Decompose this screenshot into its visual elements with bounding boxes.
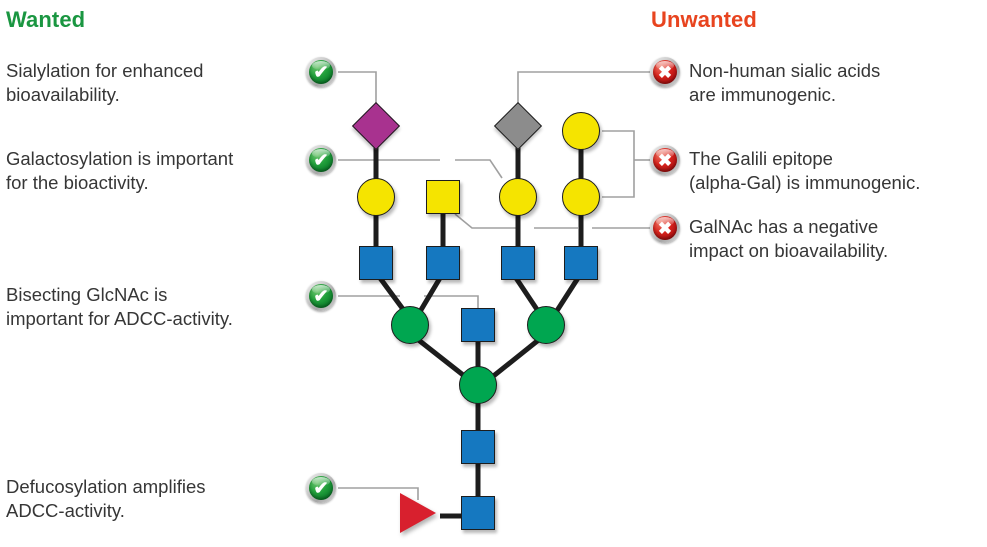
glycan-node-galactose-1 xyxy=(357,178,395,216)
glycan-node-galactose-4 xyxy=(562,178,600,216)
note-non-human-sialic-acids: Non-human sialic acids are immunogenic. xyxy=(689,59,985,106)
glycosylation-infographic: Wanted Unwanted xyxy=(0,0,987,547)
checkmark-glyph: ✔ xyxy=(306,144,336,175)
note-galili-epitope: The Galili epitope (alpha-Gal) is immuno… xyxy=(689,147,985,194)
glycan-node-galactose-alpha xyxy=(562,112,600,150)
checkmark-glyph: ✔ xyxy=(306,280,336,311)
glycan-node-neu5gc xyxy=(494,102,542,150)
note-galactosylation: Galactosylation is important for the bio… xyxy=(6,147,296,194)
cross-icon: ✖ xyxy=(650,145,680,175)
glycan-node-sialic-acid xyxy=(352,102,400,150)
glycan-node-glcnac-3 xyxy=(501,246,535,280)
check-icon: ✔ xyxy=(306,473,336,503)
note-galnac: GalNAc has a negative impact on bioavail… xyxy=(689,215,985,262)
glycan-node-galnac xyxy=(426,180,460,214)
cross-icon: ✖ xyxy=(650,57,680,87)
cross-glyph: ✖ xyxy=(650,213,680,243)
glycan-node-glcnac-1 xyxy=(359,246,393,280)
check-icon: ✔ xyxy=(306,57,336,87)
glycan-node-glcnac-bisecting xyxy=(461,308,495,342)
note-bisecting-glcnac: Bisecting GlcNAc is important for ADCC-a… xyxy=(6,283,306,330)
check-icon: ✔ xyxy=(306,281,336,311)
note-defucosylation: Defucosylation amplifies ADCC-activity. xyxy=(6,475,296,522)
checkmark-glyph: ✔ xyxy=(306,472,336,503)
checkmark-glyph: ✔ xyxy=(306,56,336,87)
glycan-node-mannose-right xyxy=(527,306,565,344)
check-icon: ✔ xyxy=(306,145,336,175)
cross-glyph: ✖ xyxy=(650,145,680,175)
glycan-node-glcnac-2 xyxy=(426,246,460,280)
glycan-node-mannose-core xyxy=(459,366,497,404)
glycan-node-glcnac-core-2 xyxy=(461,496,495,530)
glycan-node-glcnac-core-1 xyxy=(461,430,495,464)
glycan-node-galactose-3 xyxy=(499,178,537,216)
glycan-node-mannose-left xyxy=(391,306,429,344)
glycan-node-fucose xyxy=(400,493,436,533)
glycan-node-glcnac-4 xyxy=(564,246,598,280)
cross-glyph: ✖ xyxy=(650,57,680,87)
cross-icon: ✖ xyxy=(650,213,680,243)
note-sialylation: Sialylation for enhanced bioavailability… xyxy=(6,59,296,106)
